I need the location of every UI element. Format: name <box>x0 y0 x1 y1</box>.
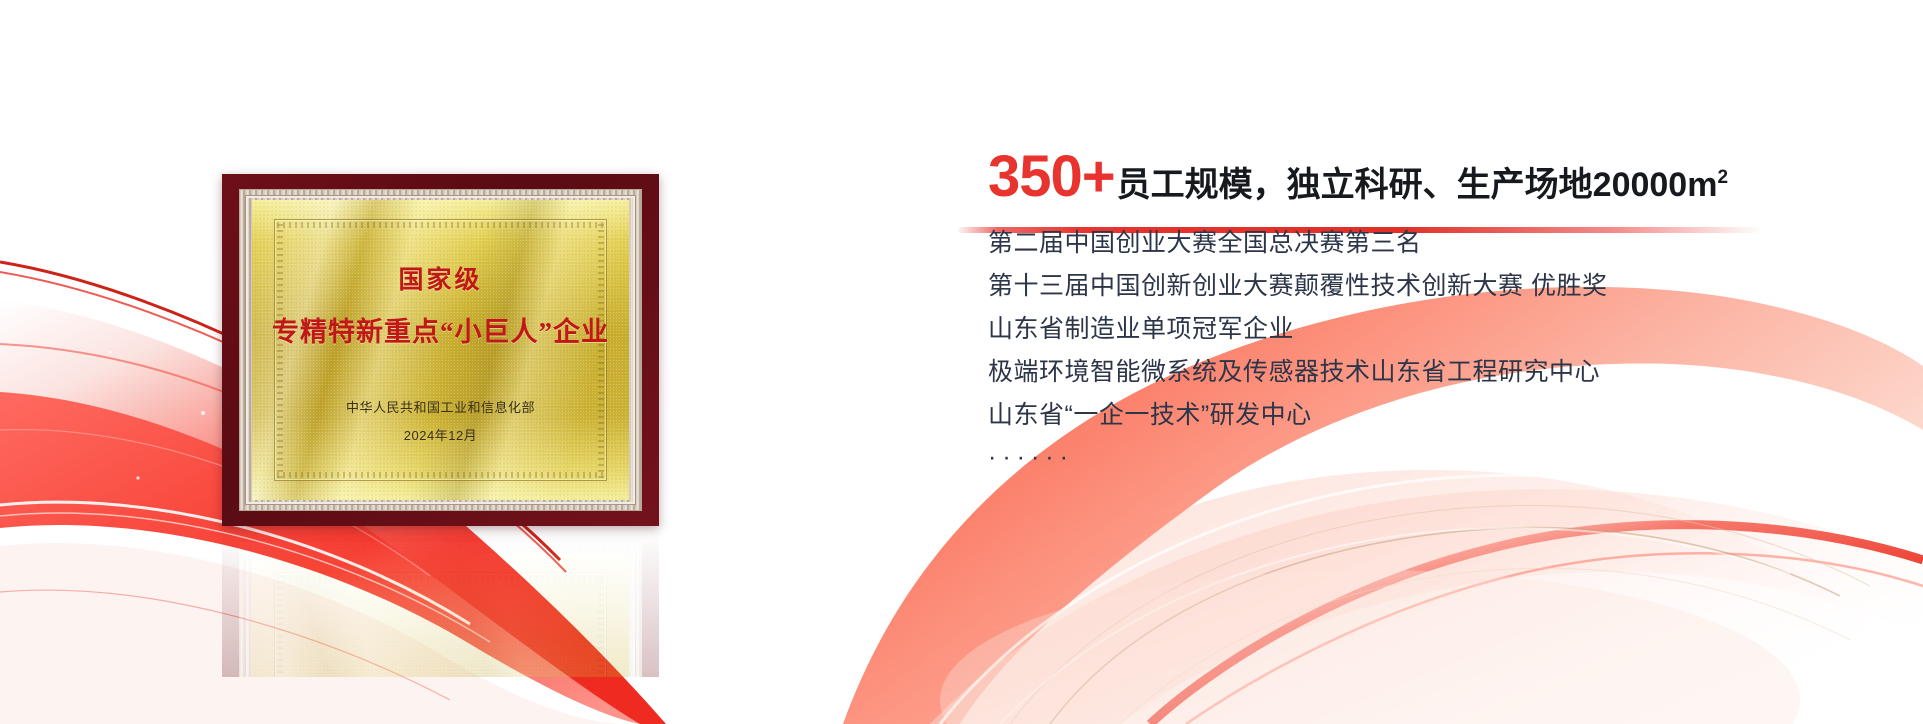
plaque-issuer: 中华人民共和国工业和信息化部 <box>346 397 535 416</box>
list-item: 极端环境智能微系统及传感器技术山东省工程研究中心 <box>988 351 1748 394</box>
plaque-reflection-body <box>222 527 659 677</box>
plaque-text-block: 国家级 专精特新重点“小巨人”企业 中华人民共和国工业和信息化部 2024年12… <box>252 200 629 500</box>
list-item: 山东省制造业单项冠军企业 <box>988 308 1748 351</box>
plaque-frame: 国家级 专精特新重点“小巨人”企业 中华人民共和国工业和信息化部 2024年12… <box>222 174 659 526</box>
list-item: 第二届中国创业大赛全国总决赛第三名 <box>988 222 1748 265</box>
plaque-reflection <box>222 527 659 677</box>
promo-banner: 国家级 专精特新重点“小巨人”企业 中华人民共和国工业和信息化部 2024年12… <box>0 0 1923 724</box>
list-item: 第十三届中国创新创业大赛颠覆性技术创新大赛 优胜奖 <box>988 265 1748 308</box>
plaque-date: 2024年12月 <box>404 425 477 444</box>
achievement-list: 第二届中国创业大赛全国总决赛第三名 第十三届中国创新创业大赛颠覆性技术创新大赛 … <box>988 222 1748 477</box>
award-plaque: 国家级 专精特新重点“小巨人”企业 中华人民共和国工业和信息化部 2024年12… <box>222 174 659 526</box>
plaque-title: 专精特新重点“小巨人”企业 <box>272 310 609 349</box>
headline-text: 员工规模，独立科研、生产场地20000m <box>1117 168 1718 202</box>
headline-number: 350+ <box>988 148 1115 206</box>
headline: 350+ 员工规模，独立科研、生产场地20000m 2 <box>988 148 1728 206</box>
plaque-level-label: 国家级 <box>398 260 482 296</box>
plaque-gold-plate: 国家级 专精特新重点“小巨人”企业 中华人民共和国工业和信息化部 2024年12… <box>252 200 629 500</box>
list-item: 山东省“一企一技术”研发中心 <box>988 394 1748 437</box>
list-ellipsis: ······ <box>988 437 1748 477</box>
headline-superscript: 2 <box>1717 167 1728 189</box>
